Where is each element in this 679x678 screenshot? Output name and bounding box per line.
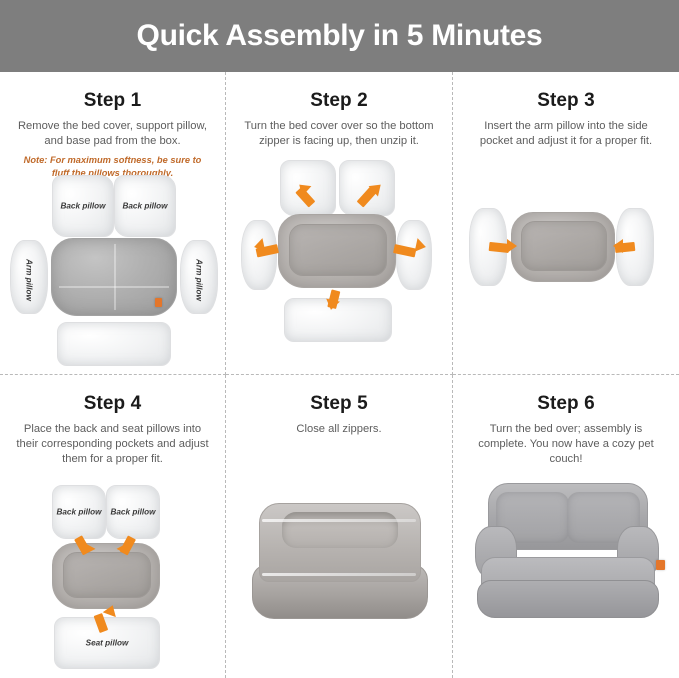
back-pillow-left: Back pillow <box>52 485 106 539</box>
bed-top <box>259 503 421 582</box>
arm-pillow-right-label: Arm pillow <box>195 259 204 295</box>
brand-tag <box>155 298 162 307</box>
brand-tag <box>656 560 665 570</box>
steps-grid: Step 1 Remove the bed cover, support pil… <box>0 72 679 678</box>
back-pillow-right-label: Back pillow <box>107 508 159 517</box>
step-cell-6: Step 6 Turn the bed over; assembly is co… <box>453 375 679 678</box>
back-pillow-left: Back pillow <box>52 175 114 237</box>
seat-pillow-label: Seat pillow <box>55 639 159 648</box>
back-pillow-right-label: Back pillow <box>115 202 175 211</box>
step-4-illustration: Back pillow Back pillow Seat pillow <box>0 375 225 678</box>
step-2-illustration <box>226 72 452 374</box>
back-pillow-right: Back pillow <box>114 175 176 237</box>
arm-pillow-left: Arm pillow <box>10 240 48 314</box>
cover-opening <box>289 224 386 276</box>
step-cell-5: Step 5 Close all zippers. <box>226 375 453 678</box>
couch-base <box>477 580 659 619</box>
back-pillow-left-label: Back pillow <box>53 202 113 211</box>
step-cell-4: Step 4 Place the back and seat pillows i… <box>0 375 226 678</box>
zipper-top <box>262 519 415 522</box>
step-6-illustration <box>453 375 679 678</box>
base-pad <box>57 322 171 366</box>
seat-pillow: Seat pillow <box>54 617 160 669</box>
step-3-illustration <box>453 72 679 374</box>
bed-cover-flipped <box>278 214 396 288</box>
bed-cover-open <box>511 212 615 282</box>
bed-cover-open <box>52 543 160 609</box>
arm-pillow-right: Arm pillow <box>180 240 218 314</box>
zipper-bottom <box>262 573 415 576</box>
assembly-instruction-page: Quick Assembly in 5 Minutes Step 1 Remov… <box>0 0 679 678</box>
assembled-bed-upside-down <box>252 503 426 619</box>
step-5-illustration <box>226 375 452 678</box>
bed-dish <box>282 512 397 549</box>
cover-side-pocket <box>521 221 607 271</box>
cover-center-seam <box>114 244 116 311</box>
step-1-illustration: Back pillow Back pillow Arm pillow Arm p… <box>0 72 225 374</box>
cover-pockets <box>63 552 152 599</box>
arm-pillow-left-label: Arm pillow <box>25 259 34 295</box>
cover-horizontal-seam <box>59 286 168 288</box>
page-title: Quick Assembly in 5 Minutes <box>137 19 543 53</box>
step-cell-3: Step 3 Insert the arm pillow into the si… <box>453 72 679 375</box>
bed-cover <box>51 238 177 316</box>
back-pillow-right: Back pillow <box>106 485 160 539</box>
back-pillow-left-label: Back pillow <box>53 508 105 517</box>
finished-pet-couch <box>471 483 663 625</box>
step-cell-1: Step 1 Remove the bed cover, support pil… <box>0 72 226 375</box>
step-cell-2: Step 2 Turn the bed cover over so the bo… <box>226 72 453 375</box>
page-header: Quick Assembly in 5 Minutes <box>0 0 679 72</box>
